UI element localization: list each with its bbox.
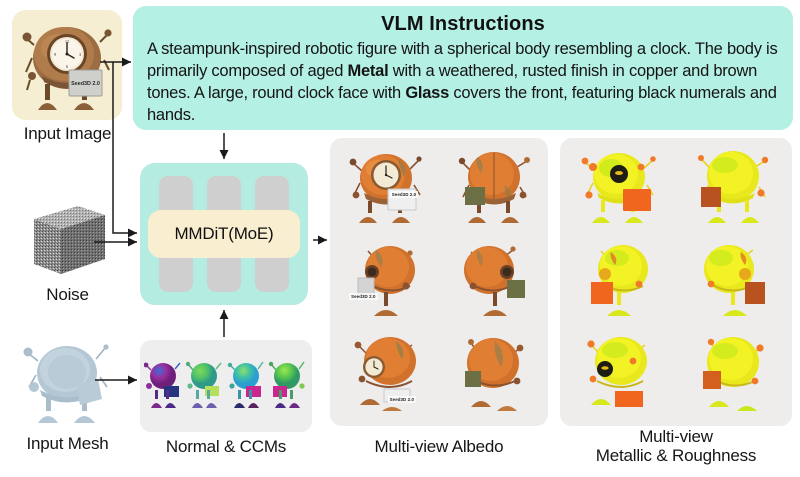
albedo-view-1: Seed3D 2.0 xyxy=(332,142,439,235)
mr-view-6 xyxy=(676,329,790,422)
mr-robot-render-5 xyxy=(571,331,667,419)
steampunk-clock-robot-photo: 123 69 Seed3D 2.0 xyxy=(12,10,122,120)
mr-label-line-1: Multi-view xyxy=(556,427,796,446)
mr-view-4 xyxy=(676,235,790,328)
input-image-watermark-text: Seed3D 2.0 xyxy=(71,81,100,87)
vlm-line-2-post: with a weathered, rusted finish xyxy=(388,62,607,80)
multiview-albedo-panel: Seed3D 2.0 xyxy=(330,138,548,426)
vlm-keyword-metal: Metal xyxy=(348,62,389,80)
input-image-label: Input Image xyxy=(0,124,135,143)
mr-robot-render-4 xyxy=(685,238,781,326)
ccm-tile-4 xyxy=(268,356,308,416)
mr-view-3 xyxy=(562,235,676,328)
ccm-tile-3 xyxy=(227,356,267,416)
pipeline-diagram: 123 69 Seed3D 2.0 Input Image xyxy=(0,0,800,477)
multiview-albedo-label: Multi-view Albedo xyxy=(330,437,548,456)
albedo-view-5: Seed3D 2.0 xyxy=(332,329,439,422)
albedo-robot-render-2 xyxy=(447,145,539,233)
vlm-line-1: A steampunk-inspired robotic figure with… xyxy=(147,40,691,58)
albedo-watermark-2: Seed3D 2.0 xyxy=(349,293,377,300)
input-image-thumbnail: 123 69 Seed3D 2.0 xyxy=(12,10,122,120)
mr-view-5 xyxy=(562,329,676,422)
normal-ccm-panel xyxy=(140,340,312,432)
albedo-robot-render-4 xyxy=(447,238,539,326)
vlm-instructions-title: VLM Instructions xyxy=(147,13,779,36)
untextured-mesh-icon xyxy=(10,335,125,430)
normal-ccm-label: Normal & CCMs xyxy=(133,437,319,456)
mmdit-label: MMDiT(MoE) xyxy=(174,224,273,244)
vlm-keyword-glass: Glass xyxy=(405,84,449,102)
mr-view-2 xyxy=(676,142,790,235)
mr-robot-render-3 xyxy=(571,238,667,326)
noise-label: Noise xyxy=(0,285,135,304)
albedo-view-4 xyxy=(439,235,546,328)
input-mesh-preview xyxy=(10,335,125,430)
svg-text:9: 9 xyxy=(54,52,56,57)
mr-label-line-2: Metallic & Roughness xyxy=(556,446,796,465)
vlm-instructions-box: VLM Instructions A steampunk-inspired ro… xyxy=(133,6,793,130)
noise-cube-icon xyxy=(12,195,122,283)
albedo-watermark-1: Seed3D 2.0 xyxy=(390,191,418,198)
mr-view-1 xyxy=(562,142,676,235)
vlm-line-3-post: covers the xyxy=(449,84,527,102)
albedo-robot-render-3 xyxy=(340,238,432,326)
albedo-view-2 xyxy=(439,142,546,235)
albedo-robot-render-6 xyxy=(447,331,539,419)
albedo-watermark-3: Seed3D 2.0 xyxy=(388,396,416,403)
mmdit-moe-module: MMDiT(MoE) xyxy=(140,163,308,305)
input-mesh-label: Input Mesh xyxy=(0,434,135,453)
albedo-view-6 xyxy=(439,329,546,422)
svg-text:12: 12 xyxy=(65,39,69,44)
multiview-metallic-roughness-panel xyxy=(560,138,792,426)
mr-robot-render-6 xyxy=(685,331,781,419)
albedo-view-3: Seed3D 2.0 xyxy=(332,235,439,328)
noise-cube xyxy=(12,195,122,283)
albedo-robot-render-5 xyxy=(340,331,432,419)
ccm-tile-2 xyxy=(185,356,225,416)
multiview-metallic-roughness-label: Multi-view Metallic & Roughness xyxy=(556,427,796,465)
vlm-instructions-text: A steampunk-inspired robotic figure with… xyxy=(147,39,779,127)
svg-text:3: 3 xyxy=(79,52,81,57)
mmdit-label-container: MMDiT(MoE) xyxy=(148,210,300,258)
svg-text:6: 6 xyxy=(66,64,68,69)
mr-robot-render-2 xyxy=(685,145,781,233)
ccm-tile-1 xyxy=(144,356,184,416)
albedo-robot-render-1 xyxy=(340,145,432,233)
mr-robot-render-1 xyxy=(571,145,667,233)
